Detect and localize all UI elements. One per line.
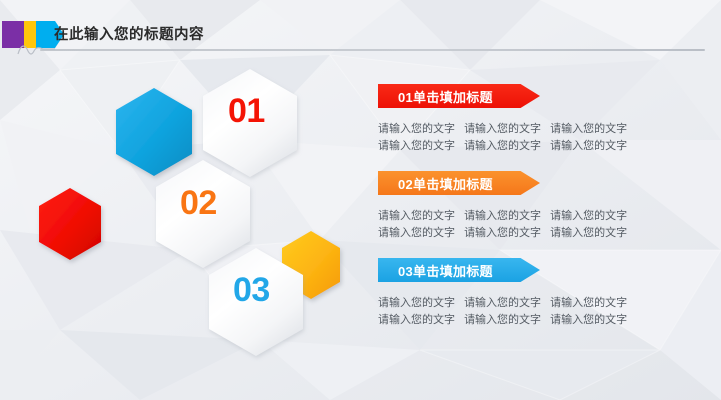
content-block-03: 03单击填加标题 请输入您的文字 请输入您的文字 请输入您的文字 请输入您的文字… [378, 258, 698, 329]
body-phrase: 请输入您的文字 [464, 210, 541, 222]
body-line: 请输入您的文字 请输入您的文字 请输入您的文字 [378, 225, 698, 242]
header-squiggle-decoration [17, 42, 57, 56]
hexagon-number-03: 03 [233, 271, 270, 310]
ribbon-label-02: 02单击填加标题 [378, 174, 493, 193]
blue-hexagon [116, 88, 192, 176]
content-block-02: 02单击填加标题 请输入您的文字 请输入您的文字 请输入您的文字 请输入您的文字… [378, 171, 698, 242]
body-phrase: 请输入您的文字 [464, 140, 541, 152]
body-text-01: 请输入您的文字 请输入您的文字 请输入您的文字 请输入您的文字 请输入您的文字 … [378, 121, 698, 155]
body-phrase: 请输入您的文字 [378, 210, 455, 222]
ribbon-label-03: 03单击填加标题 [378, 261, 493, 280]
body-phrase: 请输入您的文字 [464, 314, 541, 326]
body-line: 请输入您的文字 请输入您的文字 请输入您的文字 [378, 208, 698, 225]
slide-canvas: 在此输入您的标题内容 [0, 0, 721, 400]
ribbon-label-01: 01单击填加标题 [378, 87, 493, 106]
body-phrase: 请输入您的文字 [378, 297, 455, 309]
ribbon-banner-03[interactable]: 03单击填加标题 [378, 258, 540, 282]
body-phrase: 请输入您的文字 [550, 297, 627, 309]
header-divider [40, 49, 705, 51]
body-phrase: 请输入您的文字 [464, 297, 541, 309]
body-phrase: 请输入您的文字 [550, 314, 627, 326]
hexagon-number-02: 02 [180, 184, 217, 223]
body-phrase: 请输入您的文字 [378, 140, 455, 152]
body-line: 请输入您的文字 请输入您的文字 请输入您的文字 [378, 295, 698, 312]
body-line: 请输入您的文字 请输入您的文字 请输入您的文字 [378, 312, 698, 329]
hexagon-number-01: 01 [228, 92, 265, 131]
body-phrase: 请输入您的文字 [550, 123, 627, 135]
slide-header: 在此输入您的标题内容 [0, 0, 721, 60]
body-line: 请输入您的文字 请输入您的文字 请输入您的文字 [378, 121, 698, 138]
ribbon-banner-02[interactable]: 02单击填加标题 [378, 171, 540, 195]
page-title: 在此输入您的标题内容 [54, 23, 204, 44]
body-phrase: 请输入您的文字 [550, 210, 627, 222]
body-phrase: 请输入您的文字 [378, 123, 455, 135]
ribbon-banner-01[interactable]: 01单击填加标题 [378, 84, 540, 108]
body-line: 请输入您的文字 请输入您的文字 请输入您的文字 [378, 138, 698, 155]
body-phrase: 请输入您的文字 [550, 227, 627, 239]
body-phrase: 请输入您的文字 [378, 227, 455, 239]
body-text-02: 请输入您的文字 请输入您的文字 请输入您的文字 请输入您的文字 请输入您的文字 … [378, 208, 698, 242]
body-phrase: 请输入您的文字 [464, 227, 541, 239]
content-block-01: 01单击填加标题 请输入您的文字 请输入您的文字 请输入您的文字 请输入您的文字… [378, 84, 698, 155]
body-phrase: 请输入您的文字 [464, 123, 541, 135]
red-hexagon [39, 188, 101, 260]
body-text-03: 请输入您的文字 请输入您的文字 请输入您的文字 请输入您的文字 请输入您的文字 … [378, 295, 698, 329]
body-phrase: 请输入您的文字 [550, 140, 627, 152]
body-phrase: 请输入您的文字 [378, 314, 455, 326]
